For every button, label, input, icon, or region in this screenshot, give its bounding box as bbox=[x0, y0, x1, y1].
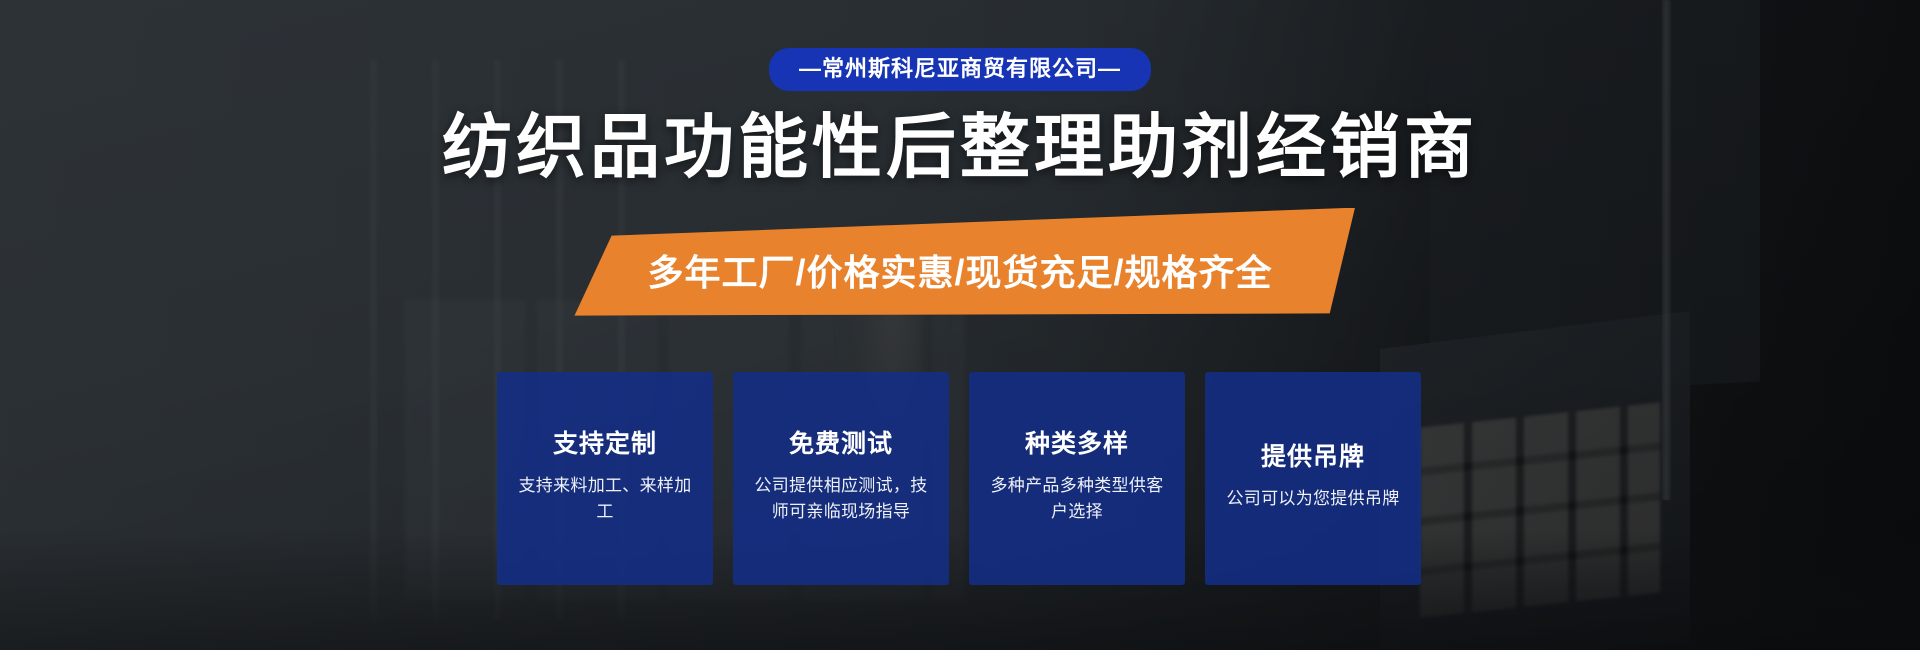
feature-card-description: 支持来料加工、来样加工 bbox=[511, 473, 699, 526]
feature-card-title: 支持定制 bbox=[553, 432, 657, 457]
hero-banner: —常州斯科尼亚商贸有限公司— 纺织品功能性后整理助剂经销商 多年工厂/价格实惠/… bbox=[0, 0, 1920, 650]
feature-card-title: 提供吊牌 bbox=[1261, 445, 1365, 470]
feature-card-description: 公司可以为您提供吊牌 bbox=[1227, 486, 1400, 512]
feature-card-hangtag[interactable]: 提供吊牌 公司可以为您提供吊牌 bbox=[1205, 372, 1421, 585]
company-name-badge: —常州斯科尼亚商贸有限公司— bbox=[769, 48, 1151, 91]
feature-card-description: 公司提供相应测试，技师可亲临现场指导 bbox=[747, 473, 935, 526]
banner-content: —常州斯科尼亚商贸有限公司— 纺织品功能性后整理助剂经销商 多年工厂/价格实惠/… bbox=[0, 0, 1920, 650]
feature-card-support-custom[interactable]: 支持定制 支持来料加工、来样加工 bbox=[497, 372, 713, 585]
feature-card-list: 支持定制 支持来料加工、来样加工 免费测试 公司提供相应测试，技师可亲临现场指导… bbox=[497, 372, 1421, 585]
feature-card-title: 种类多样 bbox=[1025, 432, 1129, 457]
feature-card-free-test[interactable]: 免费测试 公司提供相应测试，技师可亲临现场指导 bbox=[733, 372, 949, 585]
feature-card-title: 免费测试 bbox=[789, 432, 893, 457]
feature-card-description: 多种产品多种类型供客户选择 bbox=[983, 473, 1171, 526]
selling-points-text: 多年工厂/价格实惠/现货充足/规格齐全 bbox=[565, 255, 1355, 291]
selling-points-banner: 多年工厂/价格实惠/现货充足/规格齐全 bbox=[565, 208, 1355, 316]
feature-card-variety[interactable]: 种类多样 多种产品多种类型供客户选择 bbox=[969, 372, 1185, 585]
banner-headline: 纺织品功能性后整理助剂经销商 bbox=[442, 110, 1478, 186]
